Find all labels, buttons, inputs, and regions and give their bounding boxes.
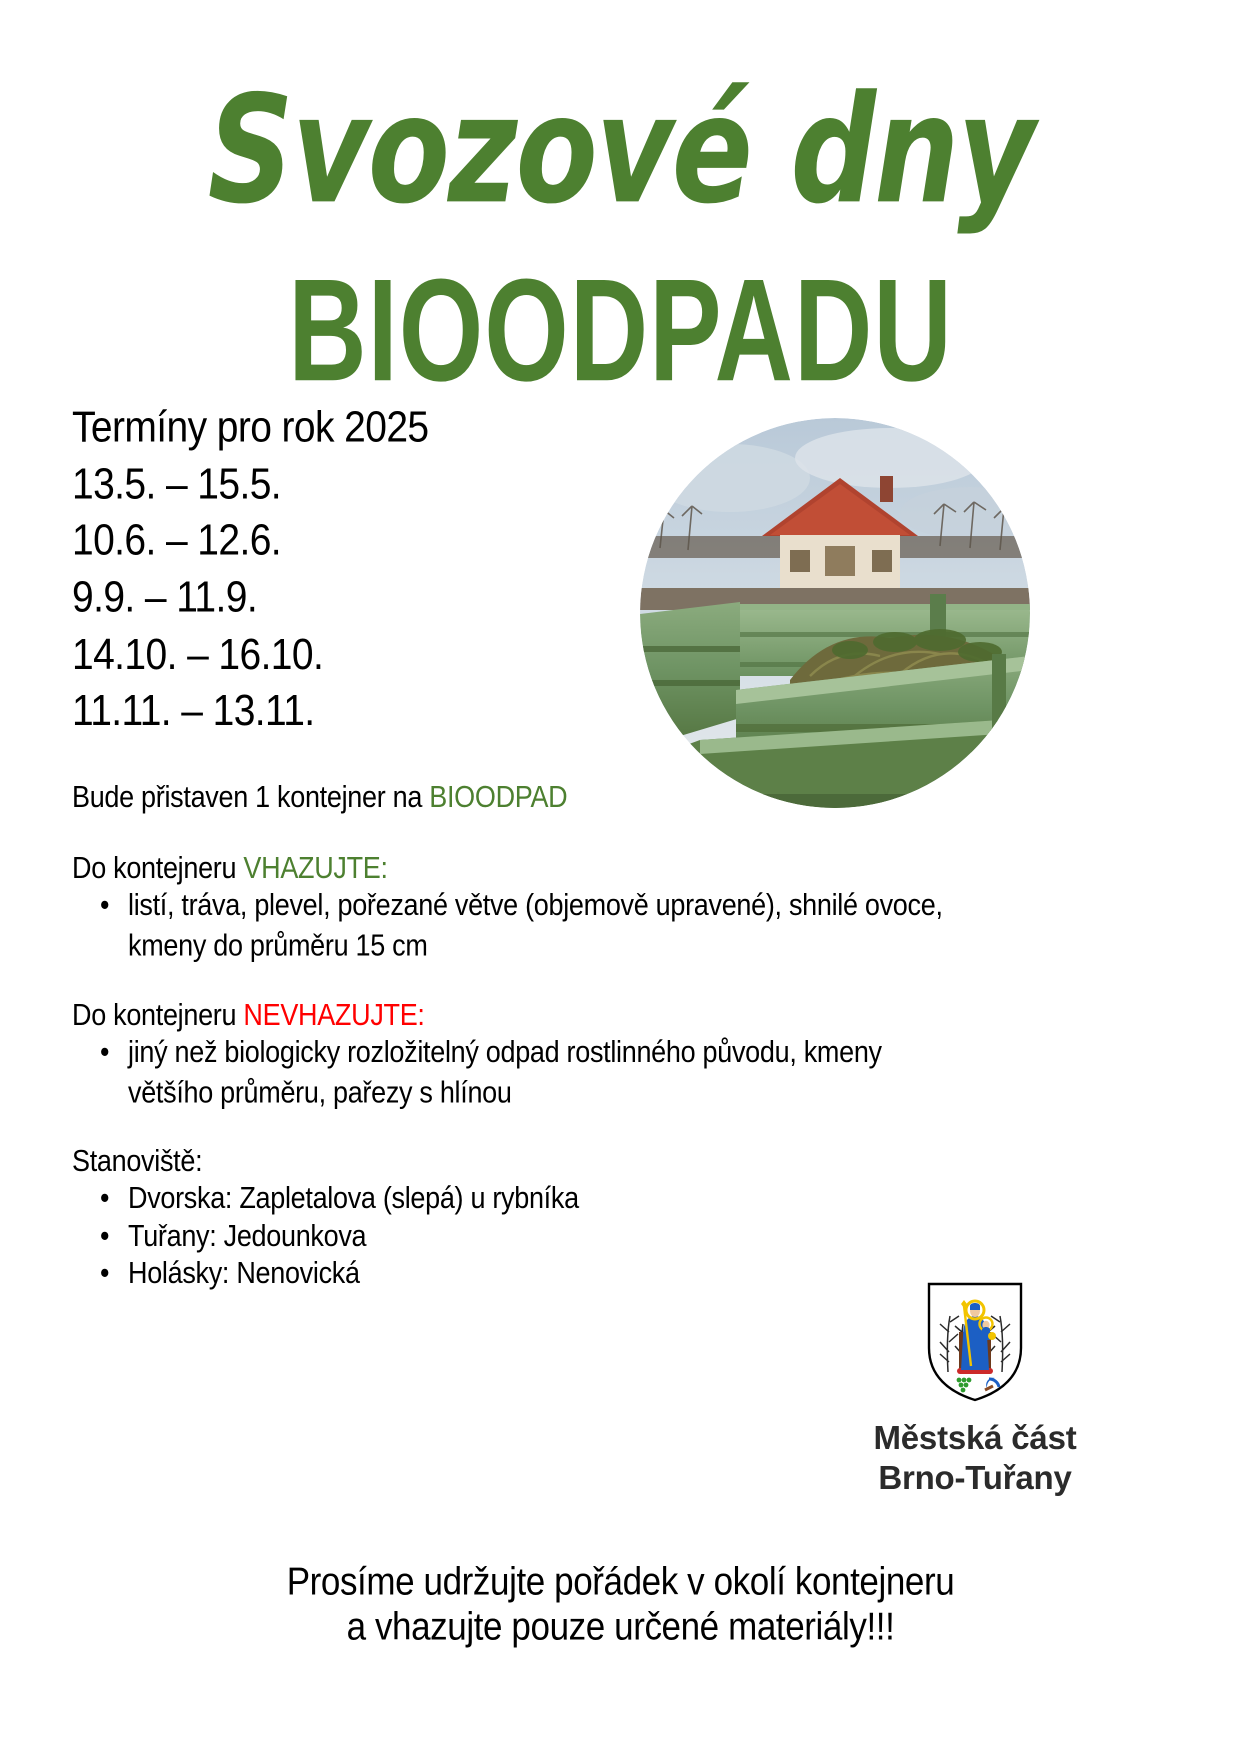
municipality-line-2: Brno-Tuřany xyxy=(775,1458,1175,1498)
forbidden-label-prefix: Do kontejneru xyxy=(72,998,243,1032)
forbidden-list: • jiný než biologicky rozložitelný odpad… xyxy=(72,1033,1132,1104)
allowed-label-prefix: Do kontejneru xyxy=(72,851,243,885)
location-text: Dvorska: Zapletalova (slepá) u rybníka xyxy=(128,1181,579,1215)
footer-line-2: a vhazujte pouze určené materiály!!! xyxy=(0,1602,1241,1652)
footer-line-1: Prosíme udržujte pořádek v okolí kontejn… xyxy=(0,1557,1241,1607)
municipality-line-1: Městská část xyxy=(775,1418,1175,1458)
container-note-prefix: Bude přistaven 1 kontejner na xyxy=(72,780,429,814)
bullet-icon: • xyxy=(100,1033,109,1073)
list-item-line-2: většího průměru, pařezy s hlínou xyxy=(128,1073,1132,1113)
bullet-icon: • xyxy=(100,1179,109,1219)
allowed-label-highlight: VHAZUJTE: xyxy=(243,851,387,885)
municipality-name: Městská část Brno-Tuřany xyxy=(775,1418,1175,1499)
bullet-icon: • xyxy=(100,1254,109,1294)
date-row: 10.6. – 12.6. xyxy=(72,514,1132,571)
coat-of-arms-icon xyxy=(923,1280,1027,1404)
poster-body: Termíny pro rok 2025 13.5. – 15.5. 10.6.… xyxy=(72,400,1132,1292)
list-item: • jiný než biologicky rozložitelný odpad… xyxy=(128,1033,1132,1113)
date-row: 13.5. – 15.5. xyxy=(72,457,1132,514)
title-line-2: BIOODPADU xyxy=(19,258,1223,404)
container-note: Bude přistaven 1 kontejner na BIOODPAD xyxy=(72,778,1132,817)
title-line-1: Svozové dny xyxy=(12,72,1228,228)
date-row: 11.11. – 13.11. xyxy=(72,684,1132,741)
list-item-line-1: listí, tráva, plevel, pořezané větve (ob… xyxy=(128,889,943,923)
forbidden-label: Do kontejneru NEVHAZUJTE: xyxy=(72,996,1132,1035)
list-item: • Tuřany: Jedounkova xyxy=(128,1217,1132,1257)
date-row: 14.10. – 16.10. xyxy=(72,627,1132,684)
date-row: 9.9. – 11.9. xyxy=(72,570,1132,627)
allowed-label: Do kontejneru VHAZUJTE: xyxy=(72,849,1132,888)
container-note-highlight: BIOODPAD xyxy=(429,780,567,814)
poster-title: Svozové dny BIOODPADU xyxy=(0,72,1241,370)
list-item: • Dvorska: Zapletalova (slepá) u rybníka xyxy=(128,1179,1132,1219)
allowed-list: • listí, tráva, plevel, pořezané větve (… xyxy=(72,886,1132,957)
location-text: Holásky: Nenovická xyxy=(128,1256,360,1290)
dates-heading: Termíny pro rok 2025 xyxy=(72,400,1132,457)
dates-block: Termíny pro rok 2025 13.5. – 15.5. 10.6.… xyxy=(72,400,1132,741)
list-item: • listí, tráva, plevel, pořezané větve (… xyxy=(128,886,1132,966)
bullet-icon: • xyxy=(100,886,109,926)
bullet-icon: • xyxy=(100,1217,109,1257)
locations-list: • Dvorska: Zapletalova (slepá) u rybníka… xyxy=(72,1179,1132,1290)
footer-note: Prosíme udržujte pořádek v okolí kontejn… xyxy=(0,1560,1241,1650)
forbidden-label-highlight: NEVHAZUJTE: xyxy=(243,998,424,1032)
locations-label: Stanoviště: xyxy=(72,1142,1132,1181)
list-item-line-1: jiný než biologicky rozložitelný odpad r… xyxy=(128,1035,882,1069)
list-item-line-2: kmeny do průměru 15 cm xyxy=(128,926,1132,966)
location-text: Tuřany: Jedounkova xyxy=(128,1219,366,1253)
municipality-block: Městská část Brno-Tuřany xyxy=(775,1280,1175,1499)
